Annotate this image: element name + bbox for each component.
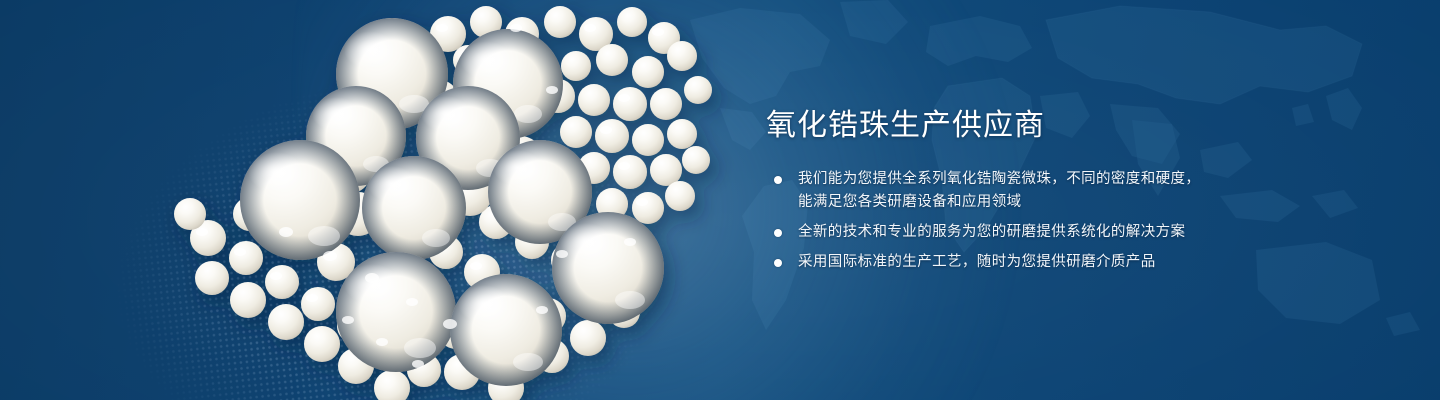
bullet-dot-icon	[774, 229, 782, 237]
list-item-line: 采用国际标准的生产工艺，随时为您提供研磨介质产品	[798, 251, 1200, 274]
list-item-line: 我们能为您提供全系列氧化锆陶瓷微珠，不同的密度和硬度，	[798, 168, 1200, 191]
feature-list: 我们能为您提供全系列氧化锆陶瓷微珠，不同的密度和硬度， 能满足您各类研磨设备和应…	[768, 168, 1200, 274]
page-title: 氧化锆珠生产供应商	[766, 109, 1045, 143]
list-item: 我们能为您提供全系列氧化锆陶瓷微珠，不同的密度和硬度， 能满足您各类研磨设备和应…	[768, 168, 1200, 214]
hero-banner: 氧化锆珠生产供应商 我们能为您提供全系列氧化锆陶瓷微珠，不同的密度和硬度， 能满…	[0, 0, 1440, 400]
list-item: 全新的技术和专业的服务为您的研磨提供系统化的解决方案	[768, 221, 1200, 244]
banner-copy: 氧化锆珠生产供应商 我们能为您提供全系列氧化锆陶瓷微珠，不同的密度和硬度， 能满…	[766, 0, 1366, 400]
zirconia-beads-image	[0, 0, 760, 400]
list-item-line: 能满足您各类研磨设备和应用领域	[798, 191, 1200, 214]
list-item-line: 全新的技术和专业的服务为您的研磨提供系统化的解决方案	[798, 221, 1200, 244]
bullet-dot-icon	[774, 259, 782, 267]
list-item: 采用国际标准的生产工艺，随时为您提供研磨介质产品	[768, 251, 1200, 274]
bullet-dot-icon	[774, 176, 782, 184]
